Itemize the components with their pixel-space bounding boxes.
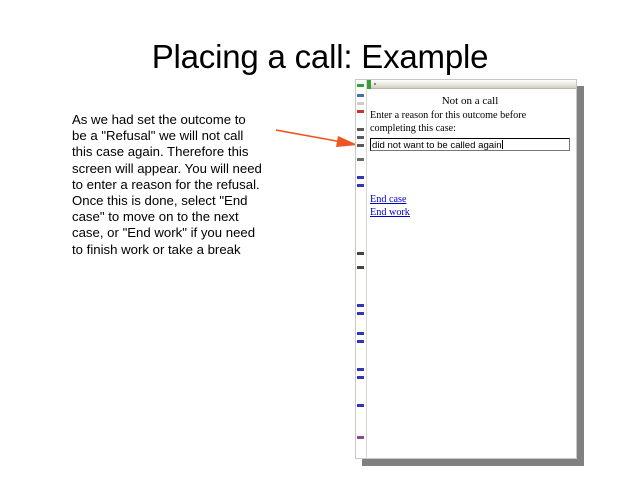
action-links: End case End work xyxy=(370,193,570,219)
reason-instruction-text: Enter a reason for this outcome before c… xyxy=(370,110,570,135)
status-indicator-icon xyxy=(367,80,371,89)
toolbar-dot-icon xyxy=(374,83,376,85)
window-page-content: Not on a call Enter a reason for this ou… xyxy=(368,90,574,458)
reason-input-value: did not want to be called again xyxy=(372,140,502,151)
embedded-app-window: Not on a call Enter a reason for this ou… xyxy=(355,79,577,459)
window-toolbar-strip[interactable] xyxy=(367,80,576,89)
text-caret xyxy=(502,140,503,149)
end-work-link[interactable]: End work xyxy=(370,206,410,219)
page-heading: Not on a call xyxy=(370,95,570,107)
red-arrow-icon xyxy=(276,126,362,152)
background-page-sliver xyxy=(356,80,367,458)
page-title: Placing a call: Example xyxy=(0,38,640,76)
end-case-link[interactable]: End case xyxy=(370,193,407,206)
slide-body-text: As we had set the outcome to be a "Refus… xyxy=(72,112,262,258)
reason-input[interactable]: did not want to be called again xyxy=(370,138,570,151)
